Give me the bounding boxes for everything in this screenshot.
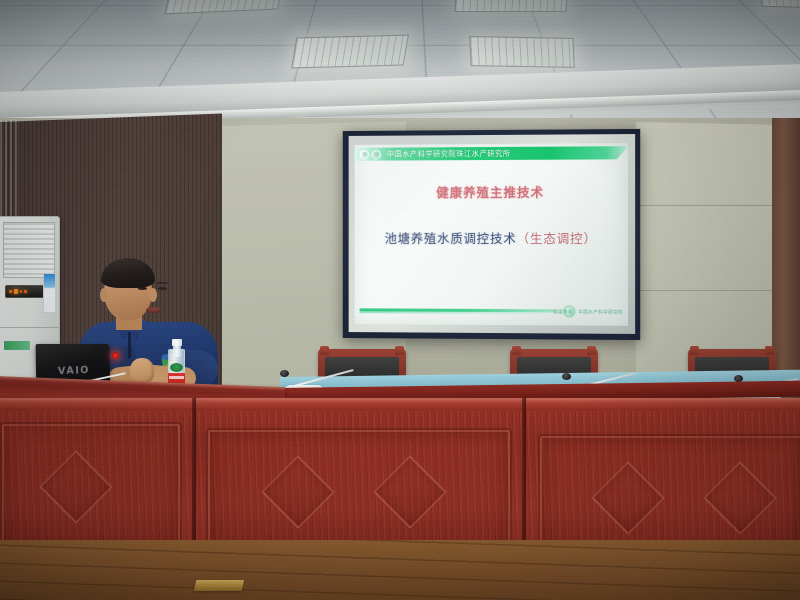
ac-led-indicator [24,290,27,293]
person-eye [158,287,167,290]
ac-led-indicator [14,289,18,294]
slide-subtitle-primary: 池塘养殖水质调控技术 [385,231,517,246]
wall-seam [640,290,790,291]
institute-logo-icon [359,149,369,159]
chair-post-cap [690,346,699,355]
slide-footer-text: 健康养殖 · 中国水产科学研究院 [553,309,623,315]
person-hair [101,258,155,288]
wall-seam [640,205,790,206]
chair-post-cap [320,346,329,355]
slide-footer-rule [359,308,555,312]
person-ear [149,288,157,302]
institute-logo-secondary-icon [371,149,381,159]
slide-title-main: 健康养殖主推技术 [355,182,629,202]
chair-post-cap [765,346,774,355]
chair-post-cap [587,346,596,355]
slide-title-sub: 池塘养殖水质调控技术（生态调控） [355,228,629,247]
ac-body-seam [0,327,59,328]
bottle-label-emblem-icon [170,363,183,372]
chair-post-cap [512,346,521,355]
slide-banner-text: 中国水产科学研究院珠江水产研究所 [387,148,511,159]
person-hands [130,358,154,384]
wooden-floor [0,540,800,600]
laptop-brand-label: VAIO [58,365,90,377]
floor-brass-plate [194,580,244,591]
microphone-active-led-icon [112,352,119,359]
ac-led-indicator [20,290,23,293]
ac-energy-label [43,273,56,313]
ac-brand-logo-icon [4,341,30,350]
projection-screen: 中国水产科学研究院珠江水产研究所 健康养殖主推技术 池塘养殖水质调控技术（生态调… [343,129,640,340]
ac-display-panel [5,285,45,298]
presentation-slide: 中国水产科学研究院珠江水产研究所 健康养殖主推技术 池塘养殖水质调控技术（生态调… [355,143,629,326]
ac-led-indicator [9,290,12,293]
slide-subtitle-paren: （生态调控） [517,231,597,246]
person-mouth [146,307,161,313]
bottle-cap [172,339,182,346]
slide-banner: 中国水产科学研究院珠江水产研究所 [355,146,629,161]
projection-surface: 中国水产科学研究院珠江水产研究所 健康养殖主推技术 池塘养殖水质调控技术（生态调… [349,134,636,334]
person-shirt-placket [128,332,131,358]
conference-room-photo: 中国水产科学研究院珠江水产研究所 健康养殖主推技术 池塘养殖水质调控技术（生态调… [0,0,800,600]
microphone-head-icon [280,370,289,377]
ac-air-grille [3,222,55,278]
microphone-arm [293,369,354,387]
person-ear [100,288,108,302]
microphone-head-icon [562,373,571,380]
person-eyebrow [157,282,168,284]
chair-post-cap [395,346,404,355]
